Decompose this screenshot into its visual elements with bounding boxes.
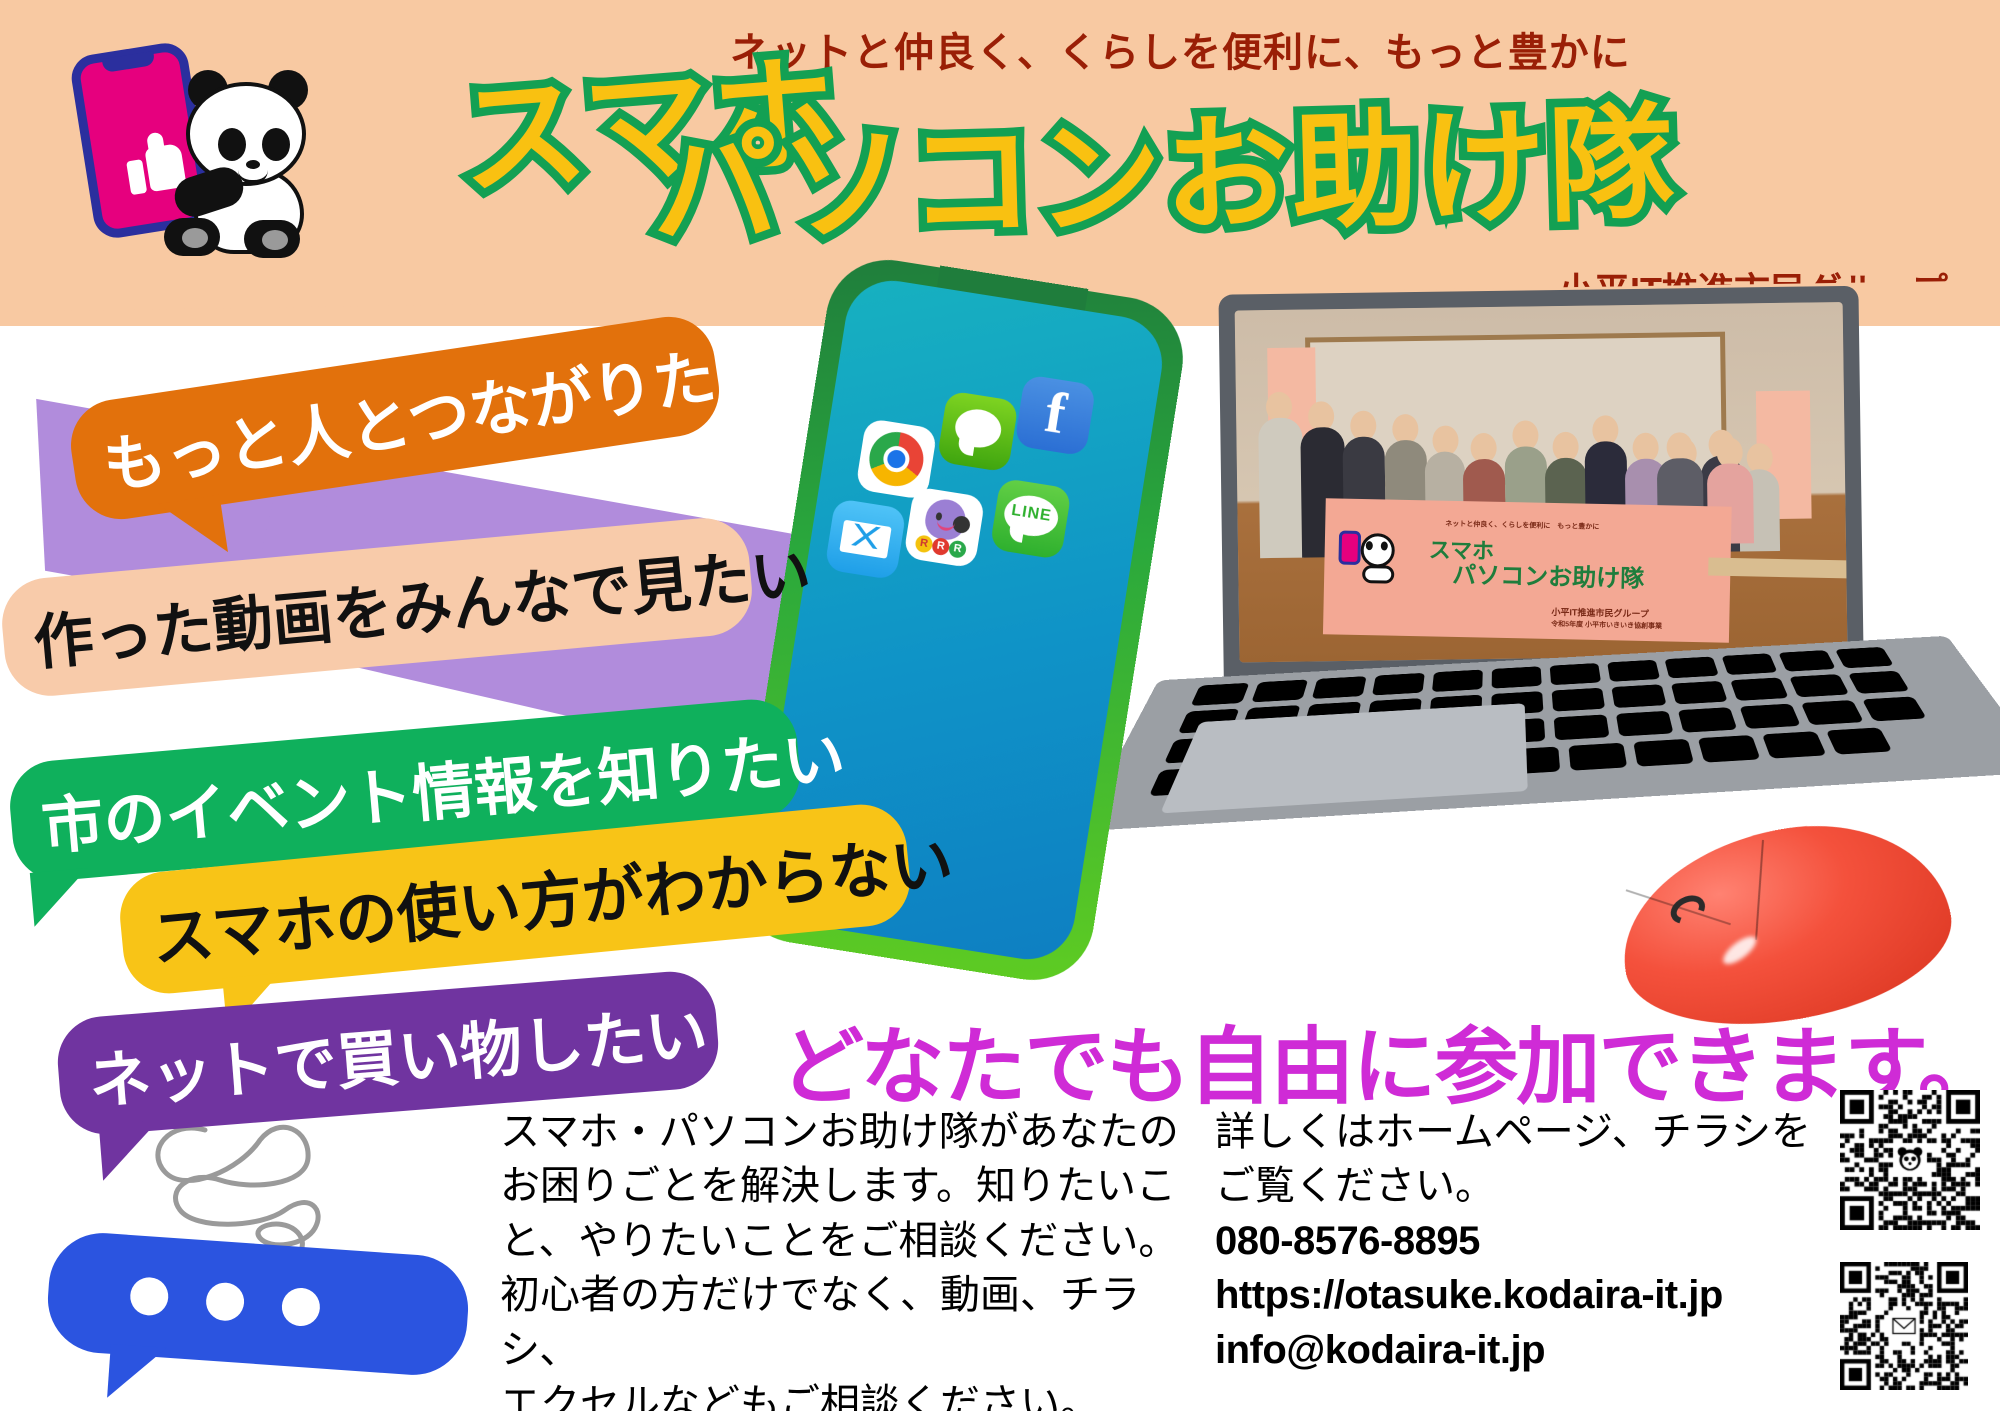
mouse-wheel-icon [1666, 890, 1710, 929]
mascot-letter: R [914, 534, 933, 553]
email-address[interactable]: info@kodaira-it.jp [1215, 1323, 1835, 1377]
chrome-app-icon[interactable] [855, 418, 937, 500]
description-line: 初心者の方だけでなく、動画、チラシ、 [500, 1268, 1190, 1377]
mascot-letter: R [948, 540, 967, 559]
panda-icon [180, 68, 325, 258]
banner-group: 小平IT推進市民グループ [1551, 605, 1649, 620]
typing-dot [205, 1281, 246, 1322]
contact-text-block: 詳しくはホームページ、チラシを ご覧ください。 080-8576-8895 ht… [1215, 1105, 1835, 1377]
headline: どなたでも自由に参加できます。 [780, 1000, 2000, 1121]
banner-tagline: ネットと仲良く、くらしを便利に もっと豊かに [1445, 519, 1599, 532]
page-title: スマホ パソコンお助け隊 [430, 72, 1630, 242]
laptop-base [1078, 636, 2000, 832]
mail-app-icon[interactable] [824, 498, 906, 580]
facebook-letter: f [1014, 374, 1096, 456]
panda-smartphone-logo [72, 40, 322, 270]
photo-banner: ネットと仲良く、くらしを便利に もっと豊かに スマホ パソコンお助け隊 小平IT… [1323, 498, 1732, 642]
bubble-tail [107, 1344, 167, 1402]
typing-indicator-bubble [44, 1229, 471, 1378]
banner-sub: 令和5年度 小平市いきいき協創事業 [1551, 619, 1662, 631]
website-url[interactable]: https://otasuke.kodaira-it.jp [1215, 1268, 1835, 1322]
typing-dot [281, 1287, 322, 1328]
laptop-lid: ネットと仲良く、くらしを便利に もっと豊かに スマホ パソコンお助け隊 小平IT… [1218, 286, 1864, 695]
mascot-app-icon[interactable]: R R R [903, 486, 985, 568]
phone-number[interactable]: 080-8576-8895 [1215, 1214, 1835, 1268]
facebook-app-icon[interactable]: f [1014, 374, 1096, 456]
description-line: と、やりたいことをご相談ください。 [500, 1214, 1190, 1268]
app-grid: f R R R LINE [868, 355, 1135, 397]
bubble-tail [158, 495, 228, 562]
header-tagline: ネットと仲良く、くらしを便利に、もっと豊かに [730, 20, 1630, 78]
bubble-tail [99, 1120, 163, 1181]
poster-root: ネットと仲良く、くらしを便利に、もっと豊かに スマホ パソコンお助け隊 小平IT… [0, 0, 2000, 1411]
bubble-tail [30, 868, 92, 927]
qr-code-website[interactable] [1840, 1090, 1980, 1230]
typing-dot [129, 1276, 170, 1317]
contact-intro-line: 詳しくはホームページ、チラシを [1215, 1105, 1835, 1159]
line-app-icon[interactable]: LINE [990, 478, 1072, 560]
description-line: スマホ・パソコンお助け隊があなたの [500, 1105, 1190, 1159]
title-line-2: パソコンお助け隊 [651, 101, 1678, 254]
description-text-block: スマホ・パソコンお助け隊があなたの お困りごとを解決します。知りたいこ と、やり… [500, 1105, 1190, 1411]
description-line: お困りごとを解決します。知りたいこ [500, 1159, 1190, 1213]
laptop-illustration: ネットと仲良く、くらしを便利に もっと豊かに スマホ パソコンお助け隊 小平IT… [1190, 278, 1909, 862]
group-photo: ネットと仲良く、くらしを便利に もっと豊かに スマホ パソコンお助け隊 小平IT… [1235, 302, 1848, 662]
description-line: エクセルなどもご相談ください。 [500, 1377, 1190, 1411]
banner-panda-icon [1338, 525, 1403, 584]
contact-intro-line: ご覧ください。 [1215, 1159, 1835, 1213]
bubble-text: ネットで買い物したい [85, 983, 710, 1121]
messages-app-icon[interactable] [937, 390, 1019, 472]
phone-notch [102, 51, 156, 73]
qr-code-email[interactable] [1840, 1262, 1968, 1390]
banner-title-2: パソコンお助け隊 [1452, 555, 1645, 594]
laptop-screen: ネットと仲良く、くらしを便利に もっと豊かに スマホ パソコンお助け隊 小平IT… [1235, 302, 1848, 662]
